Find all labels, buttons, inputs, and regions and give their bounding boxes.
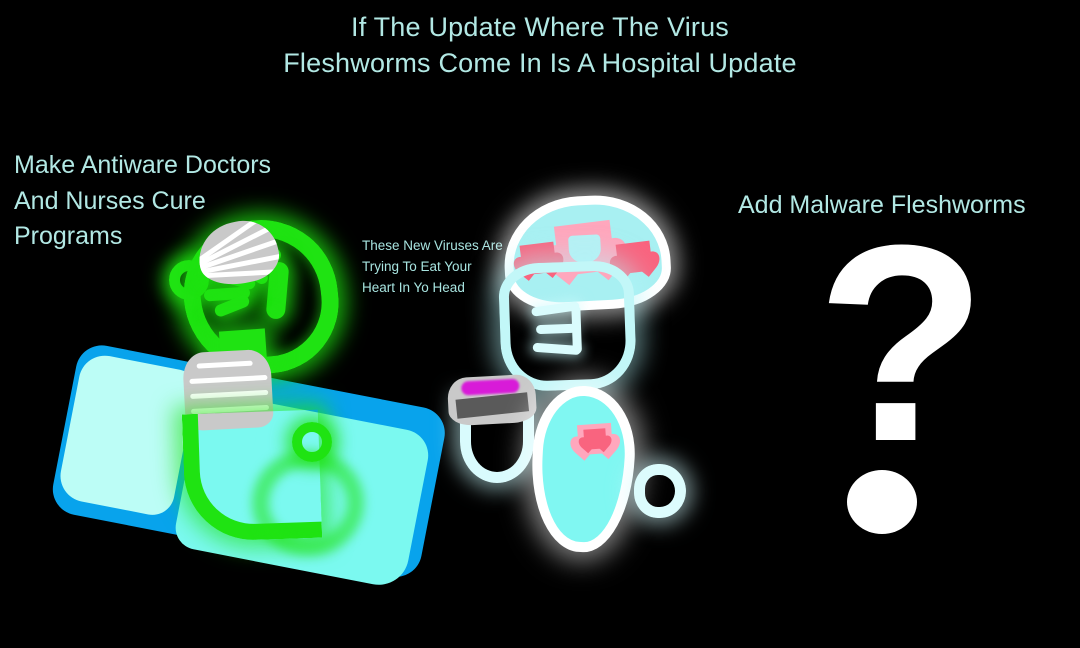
large-fleshworm-body: [528, 383, 639, 554]
concept-board-canvas: If The Update Where The Virus Fleshworms…: [0, 0, 1080, 648]
question-mark-icon: ?: [816, 204, 976, 484]
doctor-hand-glow: [252, 450, 364, 556]
virus-mouth-mark: [531, 303, 585, 359]
large-fleshworm: [532, 386, 634, 546]
antiware-doctor-figure: [160, 214, 360, 514]
question-mark-illustration: ?: [816, 248, 976, 538]
heart-icon-worm-core: [583, 428, 606, 449]
question-mark-dot: [847, 470, 917, 534]
small-fleshworm-ring: [634, 464, 686, 518]
capped-fleshworm-cap: [447, 374, 537, 427]
page-title: If The Update Where The Virus Fleshworms…: [0, 9, 1080, 81]
virus-fleshworm-creature: [492, 196, 667, 376]
capped-fleshworm-cap-band: [455, 392, 529, 418]
doctor-ring-accent: [292, 422, 332, 462]
